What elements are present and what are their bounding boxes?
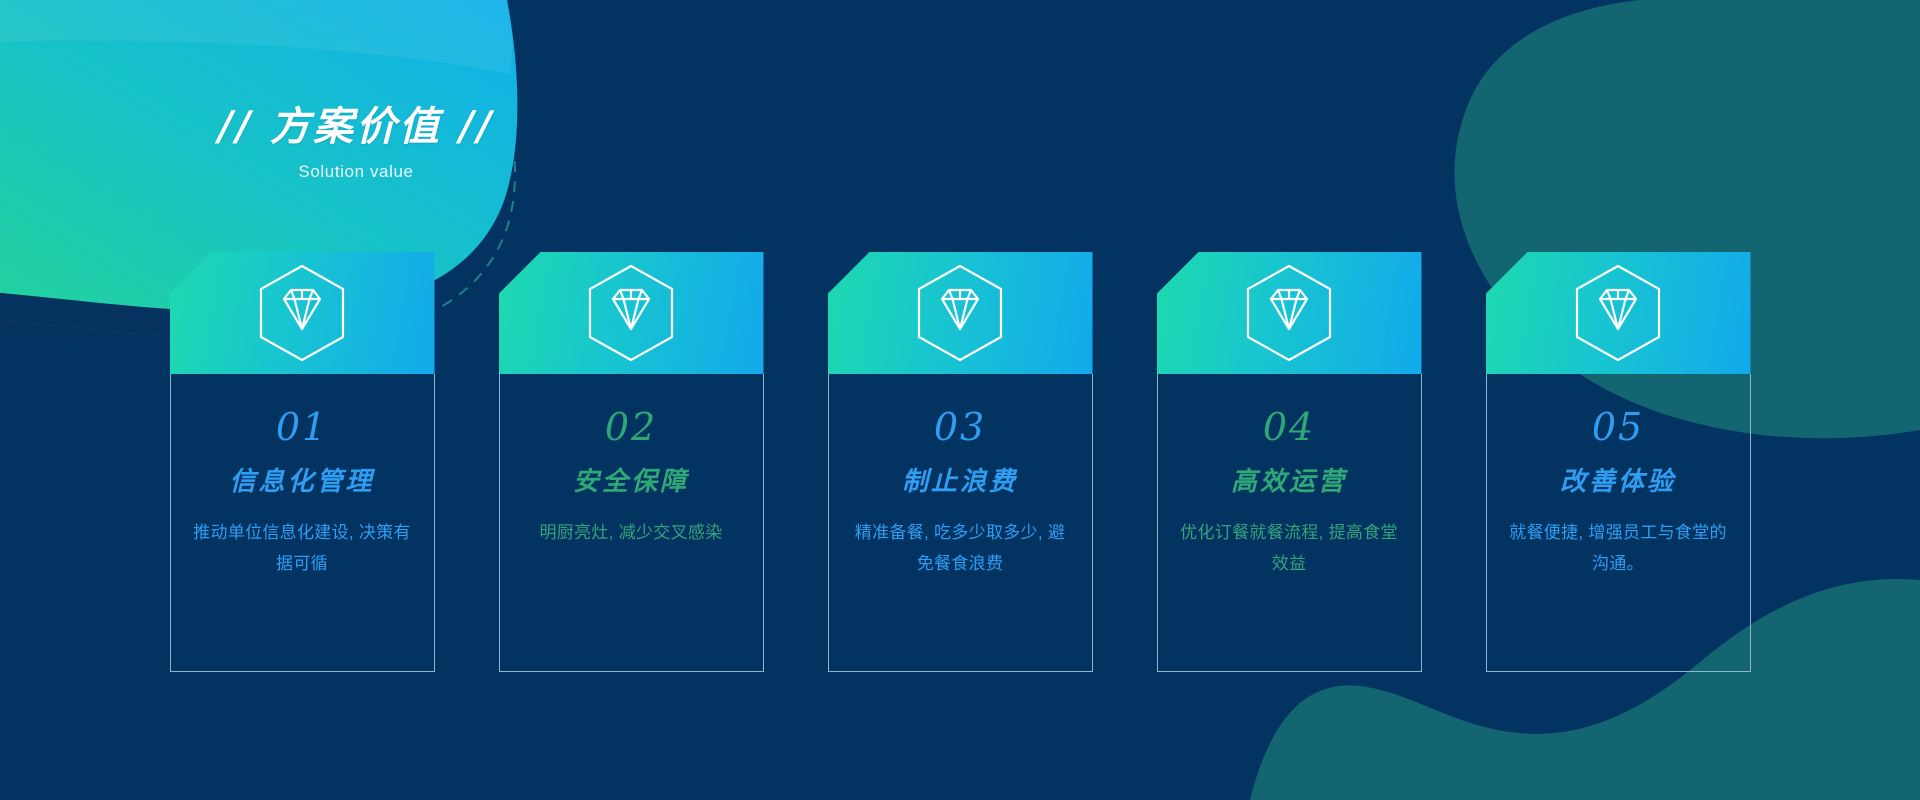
card-title: 改善体验: [1501, 468, 1736, 497]
value-card-list: 01 信息化管理 推动单位信息化建设, 决策有据可循 02: [0, 252, 1920, 672]
card-description: 明厨亮灶, 减少交叉感染: [514, 517, 749, 548]
diamond-hexagon-icon: [1572, 263, 1664, 363]
slide-canvas: // 方案价值 // Solution value 01 信息化管理: [0, 0, 1920, 800]
card-title: 安全保障: [514, 468, 749, 497]
diamond-hexagon-icon: [256, 263, 348, 363]
card-number: 01: [185, 408, 420, 446]
value-card-04[interactable]: 04 高效运营 优化订餐就餐流程, 提高食堂效益: [1157, 252, 1422, 672]
value-card-03[interactable]: 03 制止浪费 精准备餐, 吃多少取多少, 避免餐食浪费: [828, 252, 1093, 672]
card-number: 05: [1501, 408, 1736, 446]
blob-sheen: [0, 0, 512, 74]
card-description: 就餐便捷, 增强员工与食堂的沟通。: [1501, 517, 1736, 580]
card-number: 02: [514, 408, 749, 446]
title-block: // 方案价值 // Solution value: [196, 104, 516, 182]
card-body: 01 信息化管理 推动单位信息化建设, 决策有据可循: [170, 374, 435, 672]
card-description: 优化订餐就餐流程, 提高食堂效益: [1172, 517, 1407, 580]
value-card-05[interactable]: 05 改善体验 就餐便捷, 增强员工与食堂的沟通。: [1486, 252, 1751, 672]
page-subtitle: Solution value: [196, 162, 516, 182]
card-body: 03 制止浪费 精准备餐, 吃多少取多少, 避免餐食浪费: [828, 374, 1093, 672]
card-title: 信息化管理: [185, 468, 420, 497]
card-header: [1157, 252, 1422, 374]
card-title: 高效运营: [1172, 468, 1407, 497]
card-number: 04: [1172, 408, 1407, 446]
page-title: // 方案价值 //: [196, 104, 516, 150]
card-title: 制止浪费: [843, 468, 1078, 497]
card-number: 03: [843, 408, 1078, 446]
diamond-hexagon-icon: [914, 263, 1006, 363]
card-description: 推动单位信息化建设, 决策有据可循: [185, 517, 420, 580]
value-card-01[interactable]: 01 信息化管理 推动单位信息化建设, 决策有据可循: [170, 252, 435, 672]
card-header: [499, 252, 764, 374]
value-card-02[interactable]: 02 安全保障 明厨亮灶, 减少交叉感染: [499, 252, 764, 672]
diamond-hexagon-icon: [1243, 263, 1335, 363]
card-header: [828, 252, 1093, 374]
card-body: 02 安全保障 明厨亮灶, 减少交叉感染: [499, 374, 764, 672]
card-body: 05 改善体验 就餐便捷, 增强员工与食堂的沟通。: [1486, 374, 1751, 672]
card-description: 精准备餐, 吃多少取多少, 避免餐食浪费: [843, 517, 1078, 580]
diamond-hexagon-icon: [585, 263, 677, 363]
card-header: [1486, 252, 1751, 374]
card-header: [170, 252, 435, 374]
card-body: 04 高效运营 优化订餐就餐流程, 提高食堂效益: [1157, 374, 1422, 672]
